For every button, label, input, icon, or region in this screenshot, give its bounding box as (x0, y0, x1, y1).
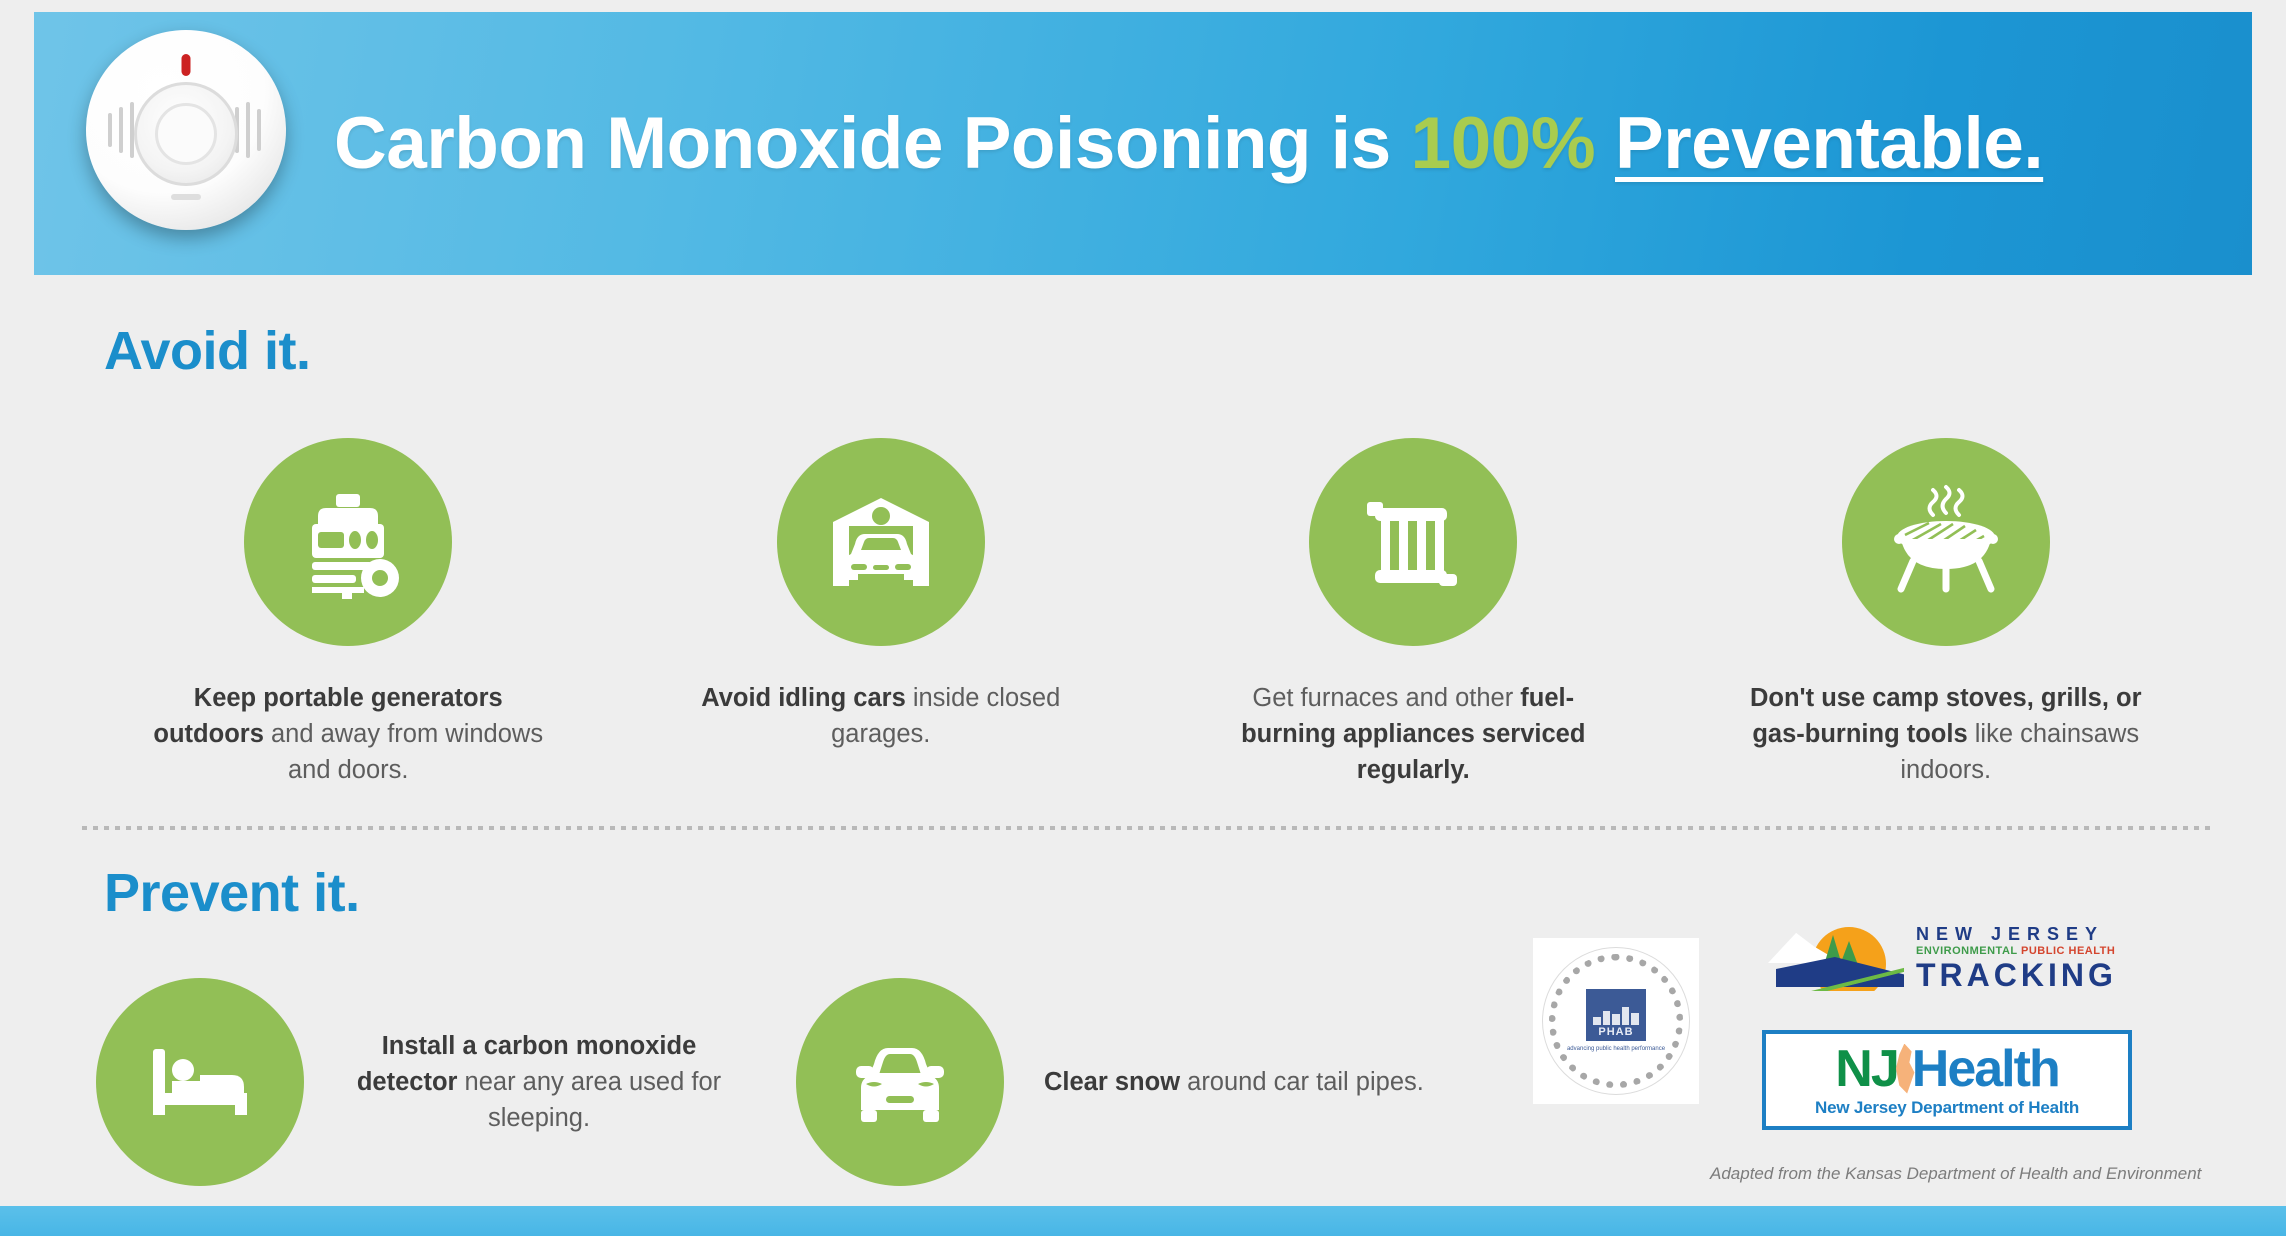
title-preventable: Preventable. (1615, 103, 2043, 184)
tracking-subtitle-green: ENVIRONMENTAL (1916, 945, 2017, 957)
nj-tracking-logo: NEW JERSEY ENVIRONMENTAL PUBLIC HEALTH T… (1762, 918, 2132, 998)
grill-icon (1842, 438, 2050, 646)
smoke-detector-icon (86, 30, 286, 230)
avoid-items-row: Keep portable generators outdoors and aw… (82, 438, 2212, 789)
phab-acronym: PHAB (1598, 1026, 1633, 1038)
tracking-line-subtitle: ENVIRONMENTAL PUBLIC HEALTH (1916, 946, 2117, 957)
infographic-poster: Carbon Monoxide Poisoning is 100% Preven… (0, 0, 2286, 1236)
avoid-caption-grill: Don't use camp stoves, grills, or gas-bu… (1746, 680, 2146, 789)
section-divider (82, 826, 2212, 830)
detector-led (182, 54, 191, 76)
title-percent: 100% (1410, 103, 1595, 184)
radiator-furnace-icon (1309, 438, 1517, 646)
avoid-caption-garage: Avoid idling cars inside closed garages. (681, 680, 1081, 752)
garage-car-icon (777, 438, 985, 646)
tracking-landscape-mark (1762, 925, 1904, 991)
njhealth-subtitle: New Jersey Department of Health (1815, 1098, 2079, 1118)
title-text-part1: Carbon Monoxide Poisoning is (334, 103, 1410, 184)
avoid-section-heading: Avoid it. (104, 320, 311, 382)
caption-rest: near any area used for sleeping. (457, 1068, 721, 1132)
avoid-caption-generator: Keep portable generators outdoors and aw… (148, 680, 548, 789)
caption-bold: Clear snow (1044, 1068, 1180, 1096)
avoid-item-furnace: Get furnaces and other fuel-burning appl… (1147, 438, 1680, 789)
prevent-section-heading: Prevent it. (104, 862, 360, 924)
prevent-item-detector: Install a carbon monoxide detector near … (96, 978, 796, 1186)
tracking-wordmark: NEW JERSEY ENVIRONMENTAL PUBLIC HEALTH T… (1916, 925, 2117, 991)
detector-button (171, 194, 201, 200)
njhealth-health-text: Health (1912, 1043, 2059, 1095)
phab-seal-circle: PHAB advancing public health performance (1542, 947, 1690, 1095)
car-front-icon (796, 978, 1004, 1186)
bed-sleeping-icon (96, 978, 304, 1186)
caption-rest: and away from windows and doors. (264, 720, 543, 784)
portable-generator-icon (244, 438, 452, 646)
tracking-subtitle-red: PUBLIC HEALTH (2021, 945, 2115, 957)
avoid-caption-furnace: Get furnaces and other fuel-burning appl… (1213, 680, 1613, 789)
tracking-line-tracking: TRACKING (1916, 959, 2117, 991)
njhealth-nj-text: NJ (1835, 1043, 1897, 1095)
nj-health-logo: NJ Health New Jersey Department of Healt… (1762, 1030, 2132, 1130)
phab-logo-box: PHAB (1586, 989, 1646, 1041)
header-banner: Carbon Monoxide Poisoning is 100% Preven… (34, 12, 2252, 275)
prevent-items-row: Install a carbon monoxide detector near … (96, 978, 1496, 1186)
footer-bar (0, 1206, 2286, 1236)
phab-accreditation-seal: PHAB advancing public health performance (1533, 938, 1699, 1104)
avoid-item-garage: Avoid idling cars inside closed garages. (615, 438, 1148, 789)
caption-rest: Get furnaces and other (1252, 684, 1520, 712)
caption-rest: around car tail pipes. (1180, 1068, 1424, 1096)
phab-skyline (1593, 1005, 1639, 1025)
detector-ring-inner (155, 103, 217, 165)
prevent-caption-snow: Clear snow around car tail pipes. (1044, 1064, 1424, 1100)
tracking-line-new-jersey: NEW JERSEY (1916, 925, 2117, 943)
prevent-caption-detector: Install a carbon monoxide detector near … (344, 1028, 734, 1137)
avoid-item-grill: Don't use camp stoves, grills, or gas-bu… (1680, 438, 2213, 789)
title-text-part2 (1595, 103, 1615, 184)
avoid-item-generator: Keep portable generators outdoors and aw… (82, 438, 615, 789)
page-title: Carbon Monoxide Poisoning is 100% Preven… (334, 102, 2043, 185)
prevent-item-snow: Clear snow around car tail pipes. (796, 978, 1496, 1186)
njhealth-wordmark: NJ Health (1835, 1043, 2058, 1095)
attribution-text: Adapted from the Kansas Department of He… (1710, 1164, 2230, 1184)
caption-bold: Avoid idling cars (701, 684, 906, 712)
